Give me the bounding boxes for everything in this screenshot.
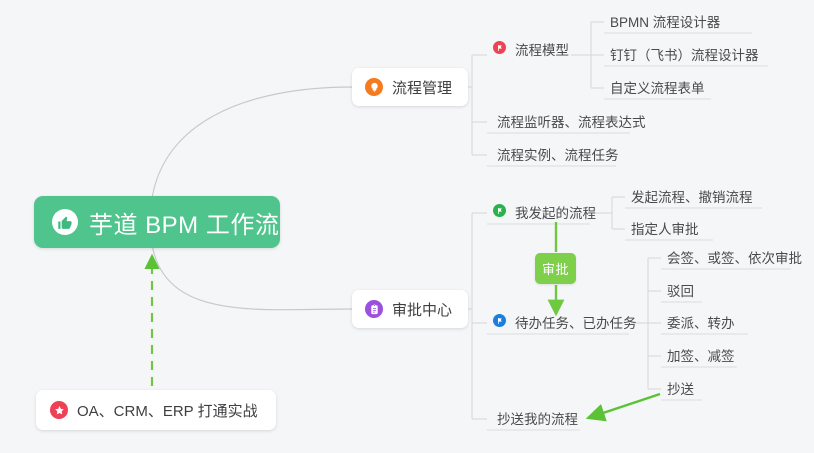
leaf-label: 流程模型 — [515, 43, 569, 58]
leaf-todo-done-tasks[interactable]: 待办任务、已办任务 — [489, 312, 645, 337]
leaf-label: 抄送 — [667, 382, 694, 397]
cc-flow-arrow — [588, 394, 660, 418]
leaf-label: 抄送我的流程 — [497, 412, 578, 427]
branch-label: 审批中心 — [392, 299, 452, 320]
leaf-listener-expression[interactable]: 流程监听器、流程表达式 — [489, 111, 654, 136]
leaf-label: 流程监听器、流程表达式 — [497, 115, 646, 130]
leaf-label: 流程实例、流程任务 — [497, 148, 619, 163]
star-icon — [50, 401, 68, 419]
leaf-add-remove-sign[interactable]: 加签、减签 — [659, 345, 743, 370]
mindmap-canvas: 芋道 BPM 工作流 流程管理 审批中心 流程模型 BPMN 流程设计器 钉 — [0, 0, 814, 453]
bulb-pin-icon — [365, 78, 383, 96]
integration-note-card[interactable]: OA、CRM、ERP 打通实战 — [36, 390, 276, 430]
leaf-label: 委派、转办 — [667, 316, 735, 331]
integration-note-label: OA、CRM、ERP 打通实战 — [77, 400, 258, 421]
leaf-label: 指定人审批 — [631, 222, 699, 237]
leaf-label: 待办任务、已办任务 — [515, 316, 637, 331]
leaf-label: 发起流程、撤销流程 — [631, 190, 753, 205]
leaf-label: 我发起的流程 — [515, 206, 596, 221]
approval-badge-label: 审批 — [542, 259, 569, 278]
approval-badge[interactable]: 审批 — [535, 253, 576, 284]
root-node[interactable]: 芋道 BPM 工作流 — [34, 196, 280, 248]
leaf-delegate-transfer[interactable]: 委派、转办 — [659, 312, 743, 337]
branch-label: 流程管理 — [392, 77, 452, 98]
leaf-label: 加签、减签 — [667, 349, 735, 364]
leaf-start-cancel[interactable]: 发起流程、撤销流程 — [623, 186, 761, 211]
leaf-label: 自定义流程表单 — [610, 81, 705, 96]
leaf-label: BPMN 流程设计器 — [610, 15, 720, 30]
flag-icon — [493, 204, 506, 217]
leaf-dingtalk-designer[interactable]: 钉钉（飞书）流程设计器 — [602, 44, 767, 69]
leaf-bpmn-designer[interactable]: BPMN 流程设计器 — [602, 11, 728, 36]
leaf-custom-form[interactable]: 自定义流程表单 — [602, 77, 713, 102]
leaf-reject[interactable]: 驳回 — [659, 280, 702, 305]
leaf-label: 会签、或签、依次审批 — [667, 251, 802, 266]
leaf-countersign[interactable]: 会签、或签、依次审批 — [659, 247, 810, 272]
leaf-label: 驳回 — [667, 284, 694, 299]
branch-approval-center[interactable]: 审批中心 — [352, 290, 468, 328]
leaf-label: 钉钉（飞书）流程设计器 — [610, 48, 759, 63]
clipboard-icon — [365, 300, 383, 318]
leaf-instance-task[interactable]: 流程实例、流程任务 — [489, 144, 627, 169]
root-label: 芋道 BPM 工作流 — [89, 205, 279, 240]
leaf-my-initiated[interactable]: 我发起的流程 — [489, 202, 604, 227]
leaf-carbon-copy[interactable]: 抄送 — [659, 378, 702, 403]
thumbs-up-icon — [52, 209, 78, 235]
leaf-cc-to-me[interactable]: 抄送我的流程 — [489, 408, 586, 433]
flag-icon — [493, 314, 506, 327]
flag-icon — [493, 41, 506, 54]
leaf-assignee-approval[interactable]: 指定人审批 — [623, 218, 707, 243]
leaf-process-model[interactable]: 流程模型 — [489, 39, 577, 64]
branch-flow-management[interactable]: 流程管理 — [352, 68, 468, 106]
